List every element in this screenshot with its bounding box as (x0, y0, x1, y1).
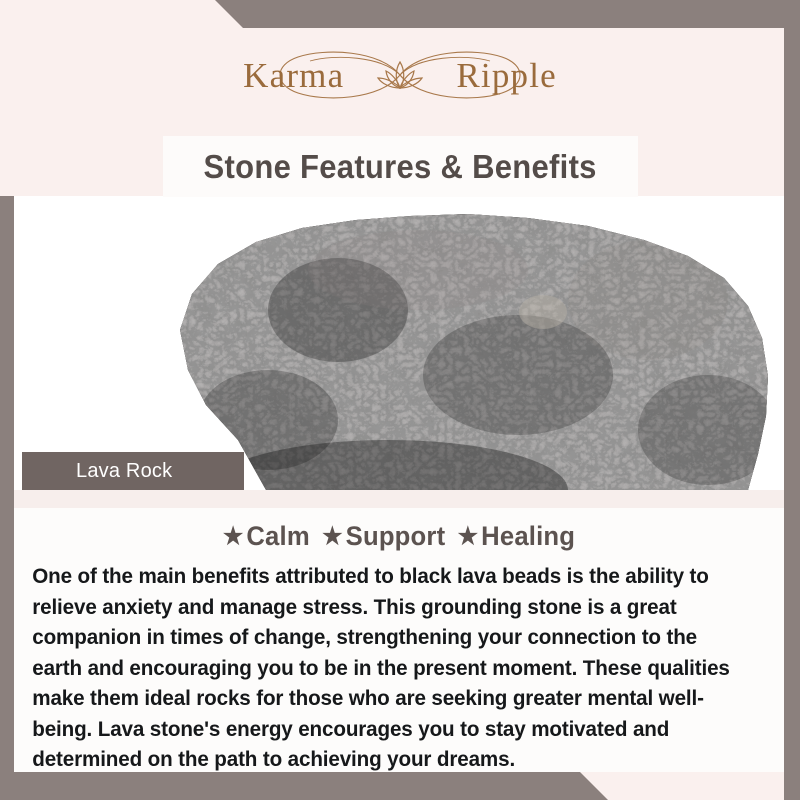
star-icon: ★ (458, 523, 479, 550)
brand-name-right: Ripple (456, 58, 557, 93)
frame-bottom-accent (0, 772, 800, 800)
photo-caption-band: Lava Rock (22, 452, 244, 490)
brand-logo: Karma Ripple (0, 44, 800, 106)
star-icon: ★ (322, 523, 343, 550)
page-title: Stone Features & Benefits (204, 148, 597, 186)
benefit-label-healing: Healing (481, 521, 575, 551)
lava-rock-photo (0, 196, 800, 490)
benefits-row: ★Calm★Support★Healing (33, 508, 765, 552)
infographic-card: Karma Ripple (0, 0, 800, 800)
photo-caption-label: Lava Rock (22, 460, 172, 483)
star-icon: ★ (223, 523, 244, 550)
section-divider (14, 490, 784, 508)
lava-rock-image (88, 196, 800, 490)
benefit-label-support: Support (346, 521, 446, 551)
content-panel: ★Calm★Support★Healing One of the main be… (14, 508, 784, 772)
benefit-label-calm: Calm (246, 521, 309, 551)
title-banner: Stone Features & Benefits (163, 136, 638, 197)
frame-right-accent (784, 0, 800, 800)
benefits-paragraph: One of the main benefits attributed to b… (14, 561, 753, 775)
frame-left-accent (0, 196, 14, 800)
brand-name-left: Karma (243, 58, 344, 93)
lotus-flower-icon (375, 57, 425, 93)
